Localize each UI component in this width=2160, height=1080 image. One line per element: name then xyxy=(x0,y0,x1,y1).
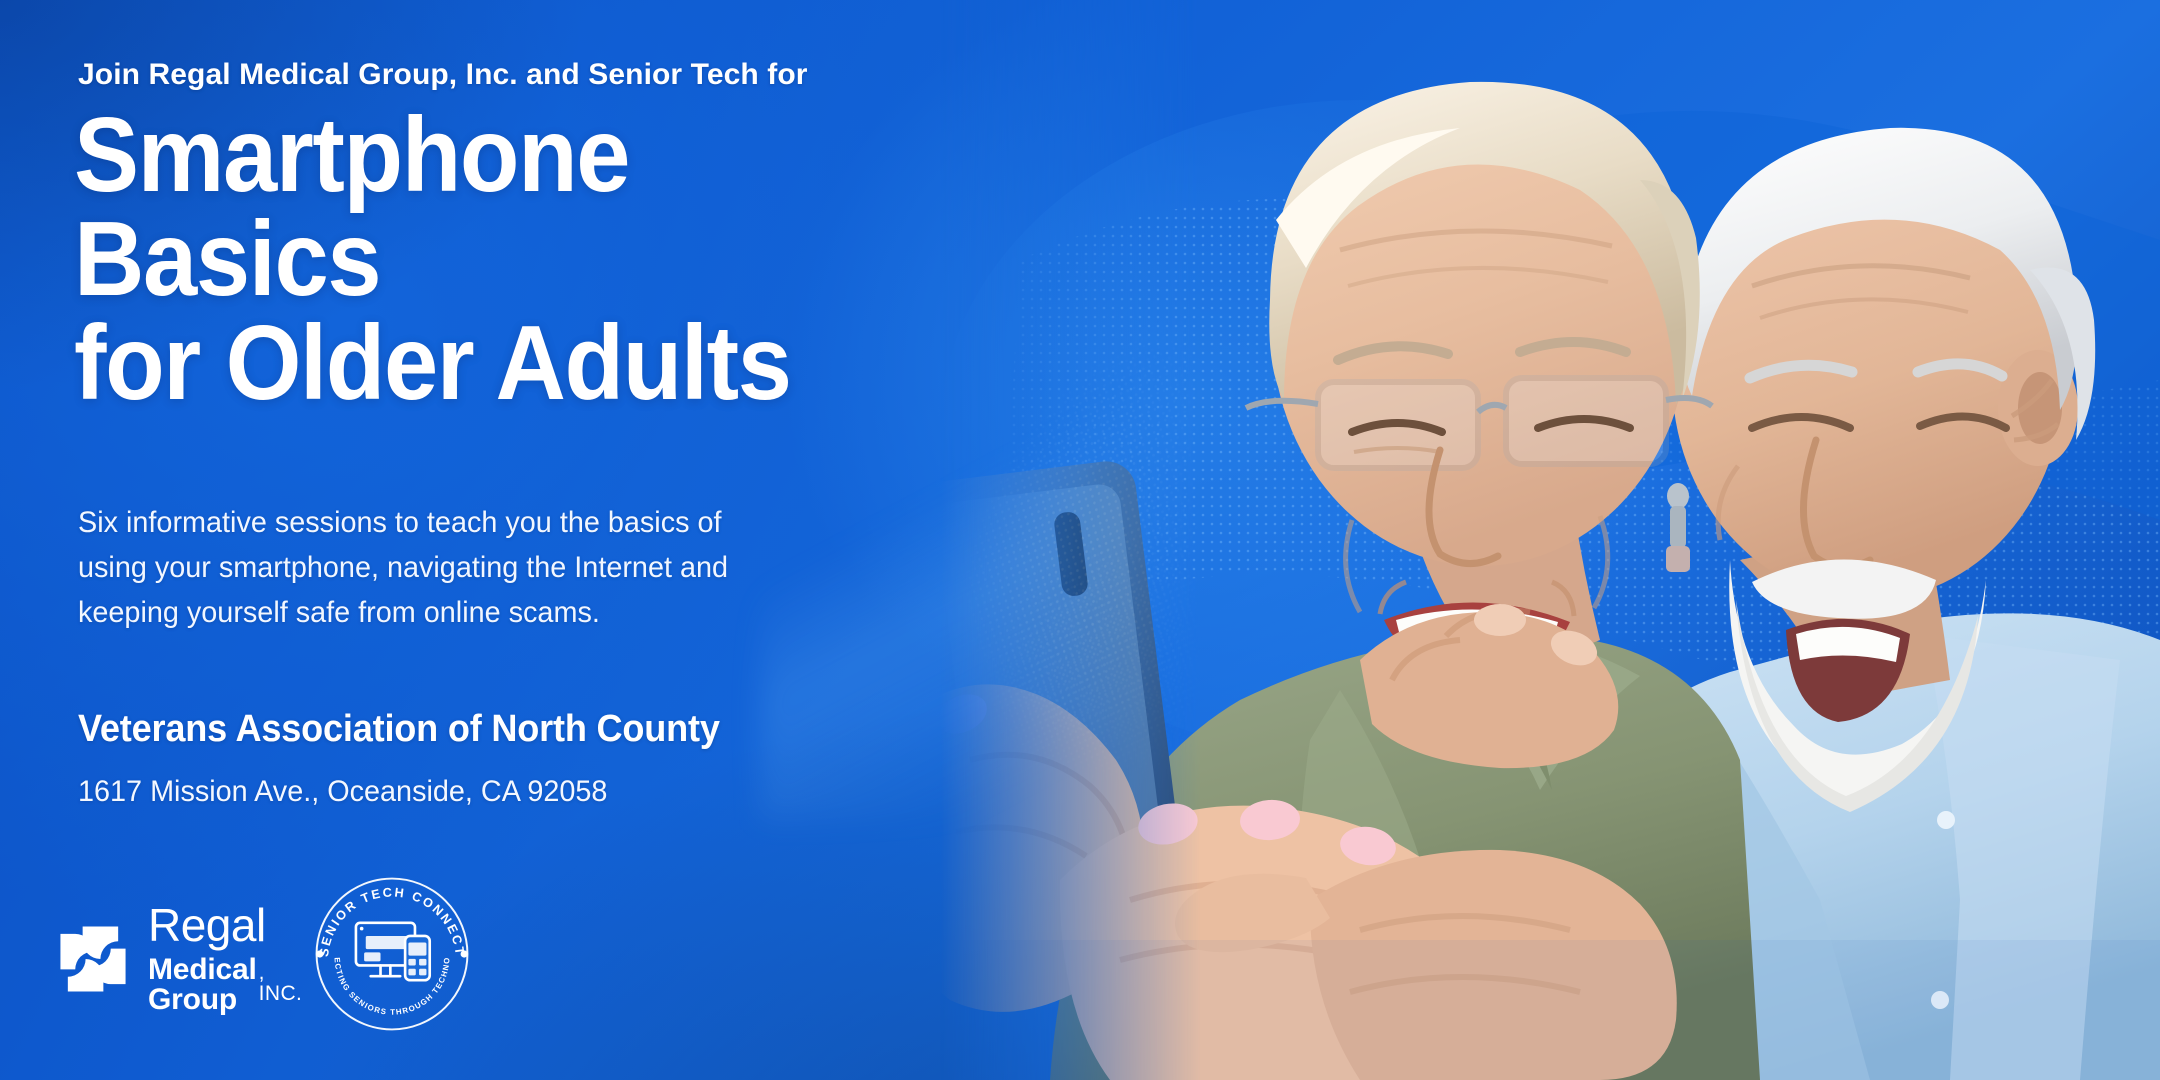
venue-address: 1617 Mission Ave., Oceanside, CA 92058 xyxy=(78,775,942,809)
regal-name-top: Regal xyxy=(148,902,302,948)
page-title: Smartphone Basics for Older Adults xyxy=(74,104,957,416)
regal-wordmark: Regal Medical Group, INC. xyxy=(148,902,302,1015)
description-paragraph: Six informative sessions to teach you th… xyxy=(78,500,788,635)
senior-couple-photo xyxy=(940,0,2160,1080)
headline-line-2: for Older Adults xyxy=(74,312,957,416)
regal-medical-group-logo: Regal Medical Group, INC. xyxy=(56,902,302,1015)
senior-tech-connect-badge: SENIOR TECH CONNECT CONNECTING SENIORS T… xyxy=(310,872,474,1036)
desktop-monitor-and-smartphone-icon xyxy=(356,923,430,980)
venue-name: Veterans Association of North County xyxy=(78,708,933,751)
regal-name-bottom: Medical Group xyxy=(148,955,257,1015)
eyebrow-text: Join Regal Medical Group, Inc. and Senio… xyxy=(78,58,998,92)
headline-line-1: Smartphone Basics xyxy=(74,96,629,318)
event-promo-banner: Join Regal Medical Group, Inc. and Senio… xyxy=(0,0,2160,1080)
regal-name-bottom-row: Medical Group, INC. xyxy=(148,955,302,1015)
regal-pinwheel-cross-icon xyxy=(56,922,130,996)
regal-inc-suffix: , INC. xyxy=(259,962,303,1004)
